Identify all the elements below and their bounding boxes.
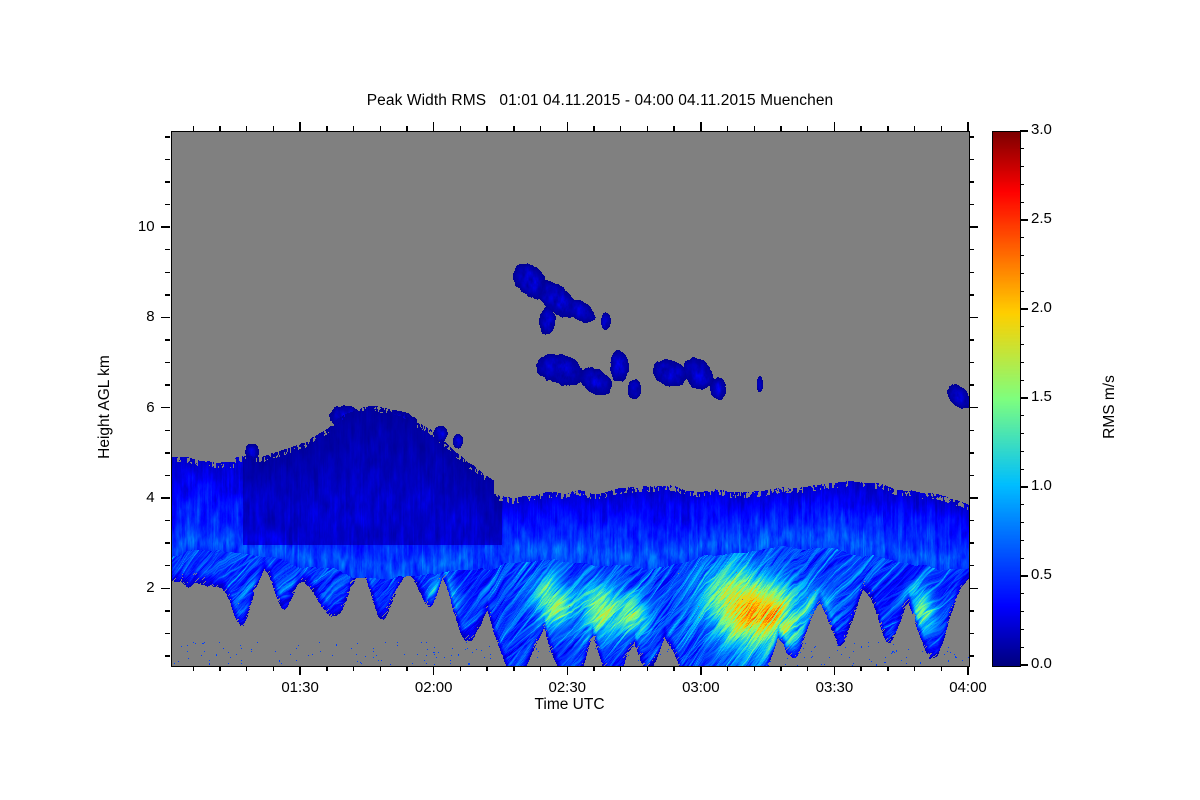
x-tick-minor (353, 666, 354, 671)
x-tick-minor-top (246, 126, 247, 131)
y-tick-minor (165, 136, 170, 137)
colorbar-tick-minor (1020, 148, 1024, 149)
x-tick-major (834, 666, 835, 675)
x-tick-minor-top (460, 126, 461, 131)
x-tick-major (967, 666, 968, 675)
x-tick-minor (807, 666, 808, 671)
colorbar-tick-label: 2.0 (1031, 299, 1052, 316)
x-tick-label: 04:00 (923, 679, 1013, 696)
y-tick-minor-right (969, 136, 974, 137)
x-tick-minor-top (887, 126, 888, 131)
x-tick-minor-top (486, 126, 487, 131)
x-tick-minor-top (353, 126, 354, 131)
colorbar-tick-label: 0.0 (1031, 655, 1052, 672)
y-tick-minor (165, 565, 170, 566)
x-tick-major-top (299, 122, 300, 131)
x-tick-minor (914, 666, 915, 671)
x-tick-minor (780, 666, 781, 671)
x-tick-minor-top (593, 126, 594, 131)
y-tick-minor-right (969, 520, 974, 521)
y-axis-label: Height AGL km (96, 297, 114, 517)
colorbar-tick-label: 1.5 (1031, 388, 1052, 405)
y-tick-major-right (969, 407, 978, 408)
colorbar-tick-minor (1020, 593, 1024, 594)
y-tick-minor-right (969, 204, 974, 205)
x-tick-minor (620, 666, 621, 671)
y-tick-minor-right (969, 430, 974, 431)
y-tick-minor (165, 272, 170, 273)
x-tick-minor (406, 666, 407, 671)
plot-axes-area[interactable] (171, 131, 970, 667)
y-tick-minor-right (969, 159, 974, 160)
y-tick-minor-right (969, 272, 974, 273)
x-tick-minor (754, 666, 755, 671)
y-tick-minor (165, 249, 170, 250)
colorbar-tick-label: 2.5 (1031, 210, 1052, 227)
colorbar-tick-minor (1020, 540, 1024, 541)
x-tick-minor-top (380, 126, 381, 131)
y-tick-minor (165, 204, 170, 205)
x-tick-major (299, 666, 300, 675)
y-tick-minor (165, 384, 170, 385)
x-tick-minor-top (780, 126, 781, 131)
x-tick-minor (513, 666, 514, 671)
colorbar-tick-minor (1020, 166, 1024, 167)
y-tick-major (161, 497, 170, 498)
x-tick-minor-top (727, 126, 728, 131)
colorbar-tick-minor (1020, 558, 1024, 559)
x-tick-minor-top (620, 126, 621, 131)
colorbar-tick-minor (1020, 522, 1024, 523)
x-axis-label: Time UTC (171, 696, 968, 714)
x-tick-minor-top (513, 126, 514, 131)
x-tick-minor (593, 666, 594, 671)
y-tick-minor-right (969, 339, 974, 340)
colorbar-tick-minor (1020, 433, 1024, 434)
x-tick-minor (219, 666, 220, 671)
plot-title: Peak Width RMS 01:01 04.11.2015 - 04:00 … (0, 92, 1200, 110)
x-tick-minor (727, 666, 728, 671)
y-tick-minor (165, 294, 170, 295)
x-tick-minor (246, 666, 247, 671)
y-tick-minor (165, 159, 170, 160)
x-tick-minor-top (914, 126, 915, 131)
colorbar-tick-minor (1020, 237, 1024, 238)
x-tick-minor-top (193, 126, 194, 131)
x-tick-major-top (967, 122, 968, 131)
colorbar-tick-minor (1020, 362, 1024, 363)
x-tick-major-top (567, 122, 568, 131)
colorbar-tick-major (1020, 486, 1028, 487)
x-tick-minor-top (807, 126, 808, 131)
x-tick-major (700, 666, 701, 675)
x-tick-label: 03:30 (789, 679, 879, 696)
colorbar-tick-minor (1020, 344, 1024, 345)
x-tick-major-top (700, 122, 701, 131)
colorbar-gradient (993, 132, 1020, 666)
colorbar-tick-major (1020, 130, 1028, 131)
x-tick-label: 01:30 (255, 679, 345, 696)
y-tick-minor-right (969, 294, 974, 295)
x-tick-minor-top (406, 126, 407, 131)
x-tick-minor (273, 666, 274, 671)
y-tick-minor-right (969, 181, 974, 182)
x-tick-minor (326, 666, 327, 671)
y-tick-minor-right (969, 475, 974, 476)
x-tick-minor (486, 666, 487, 671)
colorbar-tick-minor (1020, 291, 1024, 292)
colorbar-tick-minor (1020, 469, 1024, 470)
colorbar-tick-label: 0.5 (1031, 566, 1052, 583)
x-tick-label: 02:00 (389, 679, 479, 696)
colorbar-tick-minor (1020, 273, 1024, 274)
y-tick-major (161, 588, 170, 589)
y-tick-major-right (969, 226, 978, 227)
colorbar-tick-major (1020, 575, 1028, 576)
y-tick-minor (165, 475, 170, 476)
x-tick-minor (380, 666, 381, 671)
heatmap-image (172, 132, 969, 666)
x-tick-minor-top (219, 126, 220, 131)
y-tick-minor-right (969, 452, 974, 453)
x-tick-minor (673, 666, 674, 671)
x-tick-label: 02:30 (522, 679, 612, 696)
colorbar-tick-minor (1020, 611, 1024, 612)
x-tick-minor (460, 666, 461, 671)
y-tick-minor (165, 362, 170, 363)
x-tick-minor-top (860, 126, 861, 131)
x-tick-minor-top (273, 126, 274, 131)
x-tick-minor-top (326, 126, 327, 131)
x-tick-minor-top (754, 126, 755, 131)
y-tick-minor (165, 339, 170, 340)
colorbar-tick-label: 1.0 (1031, 477, 1052, 494)
y-tick-minor (165, 430, 170, 431)
colorbar-tick-major (1020, 664, 1028, 665)
y-tick-minor (165, 542, 170, 543)
y-tick-major-right (969, 588, 978, 589)
y-tick-minor-right (969, 610, 974, 611)
y-tick-minor (165, 520, 170, 521)
y-tick-minor (165, 452, 170, 453)
x-tick-minor (860, 666, 861, 671)
colorbar-tick-minor (1020, 380, 1024, 381)
y-tick-minor (165, 610, 170, 611)
x-tick-minor-top (540, 126, 541, 131)
x-tick-label: 03:00 (656, 679, 746, 696)
colorbar-tick-major (1020, 397, 1028, 398)
colorbar-tick-minor (1020, 184, 1024, 185)
colorbar-tick-major (1020, 308, 1028, 309)
y-tick-minor (165, 181, 170, 182)
colorbar-tick-minor (1020, 415, 1024, 416)
y-tick-major-right (969, 497, 978, 498)
y-tick-minor (165, 633, 170, 634)
figure-canvas: Peak Width RMS 01:01 04.11.2015 - 04:00 … (0, 0, 1200, 800)
colorbar-tick-minor (1020, 647, 1024, 648)
y-tick-minor (165, 655, 170, 656)
y-tick-label: 2 (95, 579, 155, 596)
y-tick-minor-right (969, 542, 974, 543)
y-tick-minor-right (969, 384, 974, 385)
colorbar-tick-minor (1020, 326, 1024, 327)
colorbar-tick-minor (1020, 629, 1024, 630)
x-tick-minor (941, 666, 942, 671)
x-tick-minor-top (647, 126, 648, 131)
colorbar-tick-minor (1020, 255, 1024, 256)
colorbar-tick-major (1020, 219, 1028, 220)
colorbar-tick-minor (1020, 504, 1024, 505)
y-tick-major (161, 226, 170, 227)
colorbar-label: RMS m/s (1101, 297, 1119, 517)
x-tick-minor (193, 666, 194, 671)
x-tick-major-top (433, 122, 434, 131)
x-tick-minor (647, 666, 648, 671)
y-tick-minor-right (969, 362, 974, 363)
colorbar[interactable] (992, 131, 1021, 667)
x-tick-minor (540, 666, 541, 671)
y-tick-minor-right (969, 249, 974, 250)
y-tick-minor-right (969, 565, 974, 566)
colorbar-tick-minor (1020, 202, 1024, 203)
x-tick-minor-top (941, 126, 942, 131)
y-tick-major-right (969, 317, 978, 318)
x-tick-minor-top (673, 126, 674, 131)
y-tick-minor-right (969, 655, 974, 656)
y-tick-major (161, 407, 170, 408)
x-tick-major (433, 666, 434, 675)
y-tick-minor-right (969, 633, 974, 634)
colorbar-tick-minor (1020, 451, 1024, 452)
y-tick-label: 10 (95, 218, 155, 235)
y-tick-major (161, 317, 170, 318)
x-tick-major (567, 666, 568, 675)
x-tick-minor (887, 666, 888, 671)
x-tick-major-top (834, 122, 835, 131)
colorbar-tick-label: 3.0 (1031, 121, 1052, 138)
